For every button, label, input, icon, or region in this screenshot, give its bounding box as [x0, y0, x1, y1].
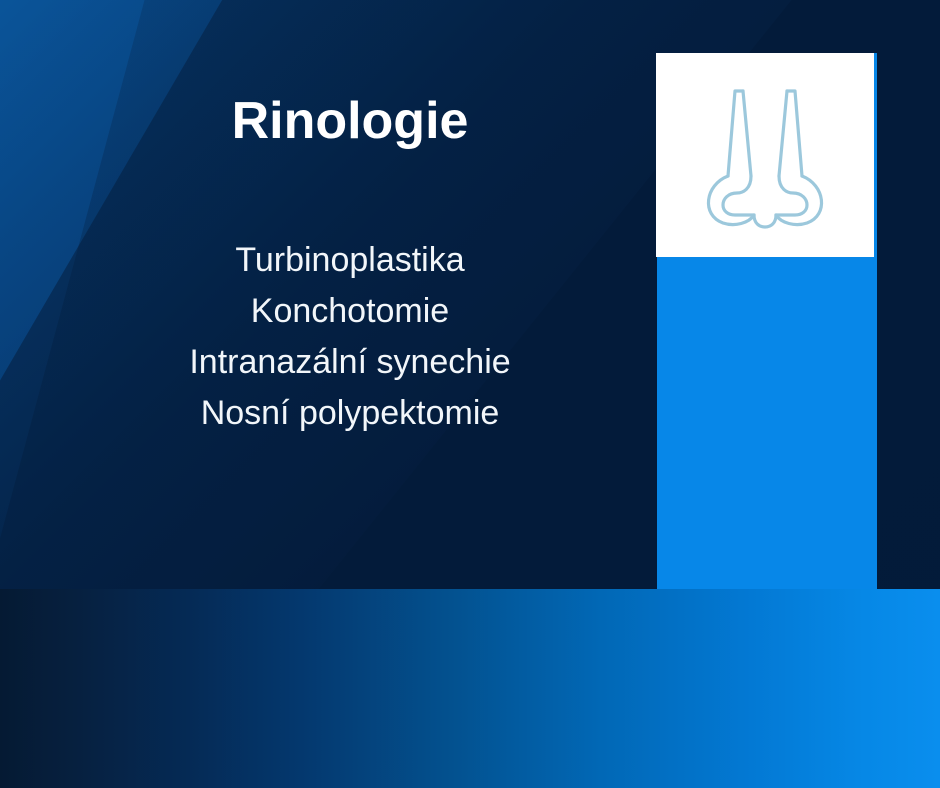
list-item: Intranazální synechie: [20, 337, 680, 388]
procedure-list: Turbinoplastika Konchotomie Intranazální…: [20, 235, 680, 439]
slide-canvas: Rinologie Turbinoplastika Konchotomie In…: [0, 0, 940, 788]
list-item: Nosní polypektomie: [20, 388, 680, 439]
list-item: Konchotomie: [20, 286, 680, 337]
nose-icon: [656, 53, 874, 257]
bottom-gradient-band: [0, 589, 940, 788]
list-item: Turbinoplastika: [20, 235, 680, 286]
page-title: Rinologie: [40, 90, 660, 152]
